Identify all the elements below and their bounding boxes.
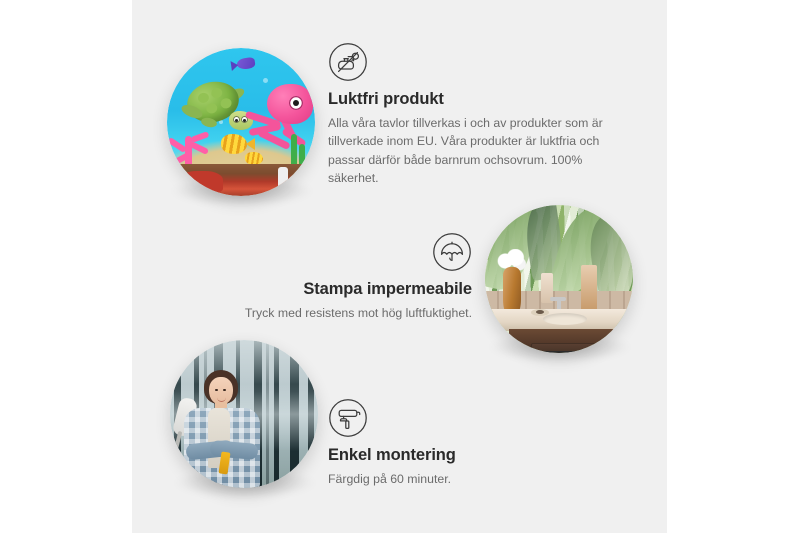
underwater-scene-art <box>167 48 315 196</box>
umbrella-icon <box>432 232 472 272</box>
feature-text-easy-installation: Enkel montering Färgdig på 60 minuter. <box>328 446 628 488</box>
bathroom-accessory <box>581 265 597 311</box>
woman-face <box>209 377 233 405</box>
woman-eye <box>223 389 226 391</box>
room-foreground-strip <box>167 164 315 196</box>
wooden-vanity-cabinet <box>509 329 633 353</box>
decorator-woman <box>180 370 266 488</box>
feature-title: Luktfri produkt <box>328 90 628 110</box>
yellow-striped-fish-icon <box>221 134 247 154</box>
soap-dish <box>531 309 549 316</box>
feature-block-waterproof-print: Stampa impermeabile Tryck med resistens … <box>172 232 472 272</box>
bathroom-scene-art <box>485 205 633 353</box>
feature-text-waterproof-print: Stampa impermeabile Tryck med resistens … <box>172 280 472 322</box>
underwater-kids-mural-medallion <box>167 48 315 196</box>
door-handle <box>605 339 609 353</box>
woman-eye <box>215 389 218 391</box>
decorator-forest-wallpaper-medallion <box>170 340 318 488</box>
bubble-icon <box>263 78 268 83</box>
drawer-handle <box>543 351 579 353</box>
feature-block-easy-installation: Enkel montering Färgdig på 60 minuter. <box>328 398 628 438</box>
forest-decorator-art <box>170 340 318 488</box>
paint-roller-icon <box>328 398 368 438</box>
copper-vase <box>503 267 521 313</box>
sink-basin <box>543 313 587 325</box>
feature-text-odour-free: Luktfri produkt Alla våra tavlor tillver… <box>328 90 628 188</box>
no-fragrance-icon <box>328 42 368 82</box>
content-panel: Luktfri produkt Alla våra tavlor tillver… <box>132 0 667 533</box>
product-feature-infographic: Luktfri produkt Alla våra tavlor tillver… <box>0 0 800 533</box>
bathroom-tropical-wallpaper-medallion <box>485 205 633 353</box>
feature-description: Färgdig på 60 minuter. <box>328 470 628 488</box>
feature-block-odour-free: Luktfri produkt Alla våra tavlor tillver… <box>328 42 628 82</box>
feature-description: Tryck med resistens mot hög luftfuktighe… <box>172 304 472 322</box>
octopus-eye <box>289 96 303 110</box>
feature-title: Enkel montering <box>328 446 628 466</box>
feature-title: Stampa impermeabile <box>172 280 472 300</box>
feature-description: Alla våra tavlor tillverkas i och av pro… <box>328 114 628 188</box>
octopus-head <box>267 84 313 124</box>
